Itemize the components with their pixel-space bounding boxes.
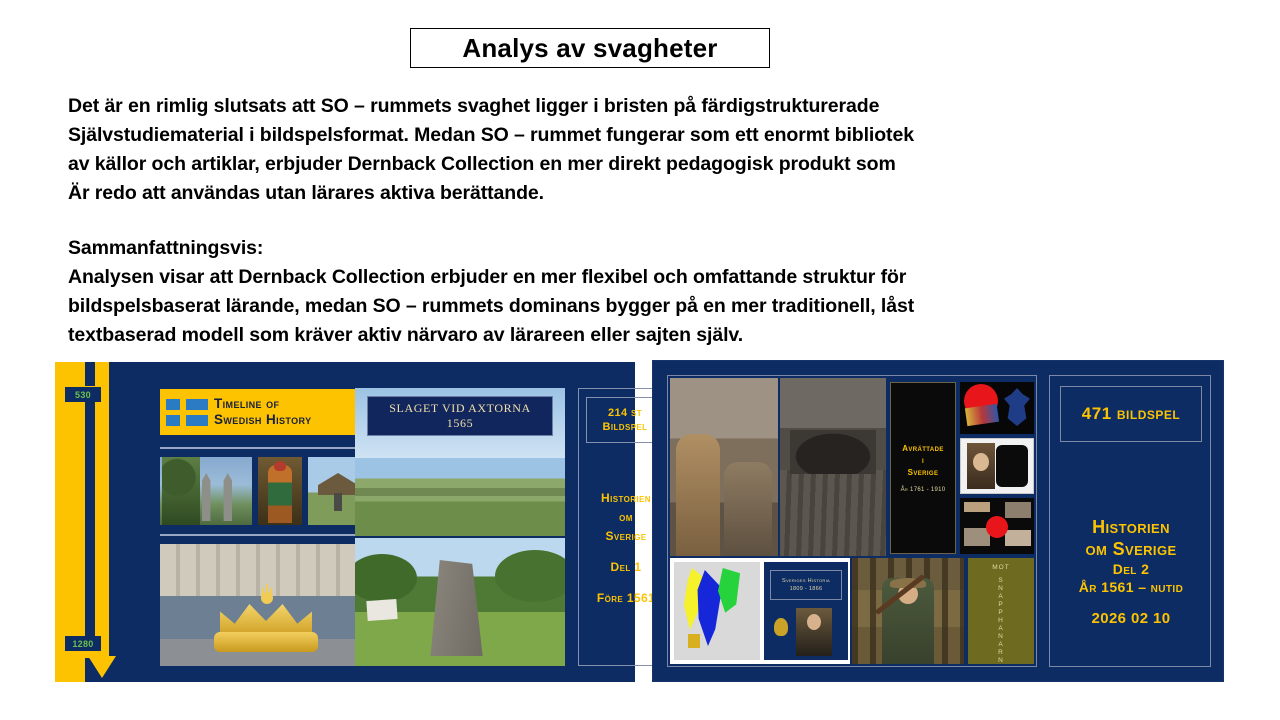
paragraph-line: av källor och artiklar, erbjuder Dernbac… [68,150,1178,179]
paragraph-line: Analysen visar att Dernback Collection e… [68,263,1178,292]
slideshow-label: Bildspel [603,420,648,434]
paragraph-line: textbaserad modell som kräver aktiv närv… [68,321,1178,350]
timeline-bar-right [95,362,109,654]
timeline-header-text: Timeline of Swedish History [214,396,312,428]
image-collage: Avrättade i Sverige År 1761 - 1910 [667,375,1037,667]
series-title-line2: om [619,510,633,524]
slide-body-text: Det är en rimlig slutsats att SO – rumme… [68,92,1178,350]
axtorna-year: 1565 [447,416,473,431]
series-period: Före 1561 [597,591,655,605]
divider [160,447,368,449]
executions-line2: i [922,455,924,467]
snapphanarna-banner: MOT SNAPPHANARNA [968,558,1034,664]
axtorna-banner: SLAGET VID AXTORNA 1565 [355,388,565,458]
series-title-line2: om Sverige [1050,538,1212,560]
divider [160,534,368,536]
axtorna-title: SLAGET VID AXTORNA [389,401,530,416]
paragraph-line: bildspelsbaserat lärande, medan SO – rum… [68,292,1178,321]
sweden-history-map-card: Sveriges Historia 1809 - 1866 [670,558,850,664]
thumbnail-row [160,457,368,525]
historical-portrait-photo [960,438,1034,494]
swedish-flag-icon [166,399,208,426]
sveriges-historia-plate: Sveriges Historia 1809 - 1866 [770,570,842,600]
medieval-painting-thumbnail [258,457,302,525]
series-date: 2026 02 10 [1050,610,1212,628]
page-title: Analys av svagheter [462,33,717,64]
summary-heading: Sammanfattningsvis: [68,234,1178,263]
series-part: Del 2 [1050,560,1212,578]
slide-thumbnail-part1[interactable]: 530 1280 Timeline of Swedish History SLA… [55,362,635,682]
scandinavia-map [674,562,760,660]
stamps-collage-photo [960,498,1034,554]
arrow-down-icon [88,656,116,678]
slide-thumbnail-part2[interactable]: Avrättade i Sverige År 1761 - 1910 [652,360,1224,682]
timeline-header-badge: Timeline of Swedish History [160,389,368,435]
slideshow-count: 214 st [608,406,642,420]
carl-xv-portrait [796,608,832,656]
medals-and-orders-photo [960,382,1034,434]
cathedral-thumbnail [160,457,252,525]
center-image-column: SLAGET VID AXTORNA 1565 [355,388,565,666]
timeline-header-line1: Timeline of [214,396,279,411]
royal-emblem-icon [774,618,788,636]
paragraph-line: Självstudiematerial i bildspelsformat. M… [68,121,1178,150]
executions-years: År 1761 - 1910 [901,487,946,493]
series-title-line1: Historien [1050,516,1212,538]
executions-line1: Avrättade [902,443,944,455]
slideshow-count-badge: 471 bildspel [1060,386,1202,442]
series-title-line1: Historien [601,491,651,505]
series-part: Del 1 [611,560,642,574]
slide-title-box: Analys av svagheter [410,28,770,68]
medieval-crowd-photo [670,378,778,556]
executions-title-card: Avrättade i Sverige År 1761 - 1910 [890,382,956,554]
series-title-block: Historien om Sverige Del 2 År 1561 – nut… [1050,516,1212,628]
timeline-year-start: 530 [65,387,101,402]
timeline-year-end: 1280 [65,636,101,651]
cobbled-street-procession-photo [780,378,886,556]
info-column-part2: 471 bildspel Historien om Sverige Del 2 … [1049,375,1211,667]
snapphanarna-top-label: MOT [992,564,1009,571]
axtorna-title-plate: SLAGET VID AXTORNA 1565 [367,396,553,436]
paragraph-summary: Sammanfattningsvis: Analysen visar att D… [68,234,1178,350]
snapphanarna-vertical-label: SNAPPHANARNA [998,577,1004,664]
paragraph-analysis: Det är en rimlig slutsats att SO – rumme… [68,92,1178,208]
timeline-rail: 530 1280 [55,362,127,682]
axtorna-battlefield-photo [355,458,565,536]
snapphane-soldier-photo [852,558,964,664]
royal-crown-photo [160,544,368,666]
timeline-bar-left [55,362,85,682]
series-title-line3: Sverige [605,529,646,543]
executions-line3: Sverige [908,467,939,479]
paragraph-line: Det är en rimlig slutsats att SO – rumme… [68,92,1178,121]
memorial-stone-photo [355,538,565,666]
series-period: År 1561 – nutid [1050,578,1212,596]
timeline-header-line2: Swedish History [214,412,312,427]
sveriges-historia-years: 1809 - 1866 [790,585,823,593]
sveriges-historia-title: Sveriges Historia [782,577,830,585]
paragraph-line: Är redo att användas utan lärares aktiva… [68,179,1178,208]
